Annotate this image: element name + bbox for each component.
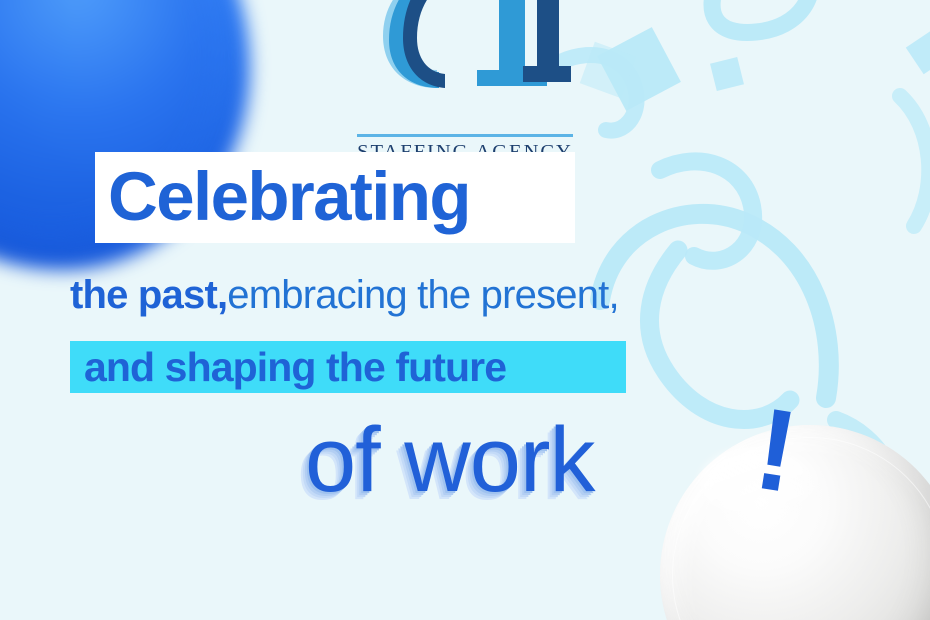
promo-poster: & STAFFING AGENCY Celebrating the past,e… (0, 0, 930, 620)
ribbon-loop-upper-right (600, 214, 829, 398)
headline-line4: of work (305, 408, 595, 512)
headline-line3: and shaping the future (84, 345, 506, 390)
headline-line1: Celebrating (108, 160, 470, 234)
g-and-i-monogram-icon: & (345, 0, 585, 88)
brand-logo: & (0, 0, 930, 88)
logo-rule-top (357, 134, 573, 137)
ribbon-curl-mid (660, 161, 753, 260)
headline-line2-bold: the past, (70, 273, 227, 317)
headline-line2: the past,embracing the present, (70, 272, 619, 318)
headline-line2-regular: embracing the present, (227, 273, 619, 317)
